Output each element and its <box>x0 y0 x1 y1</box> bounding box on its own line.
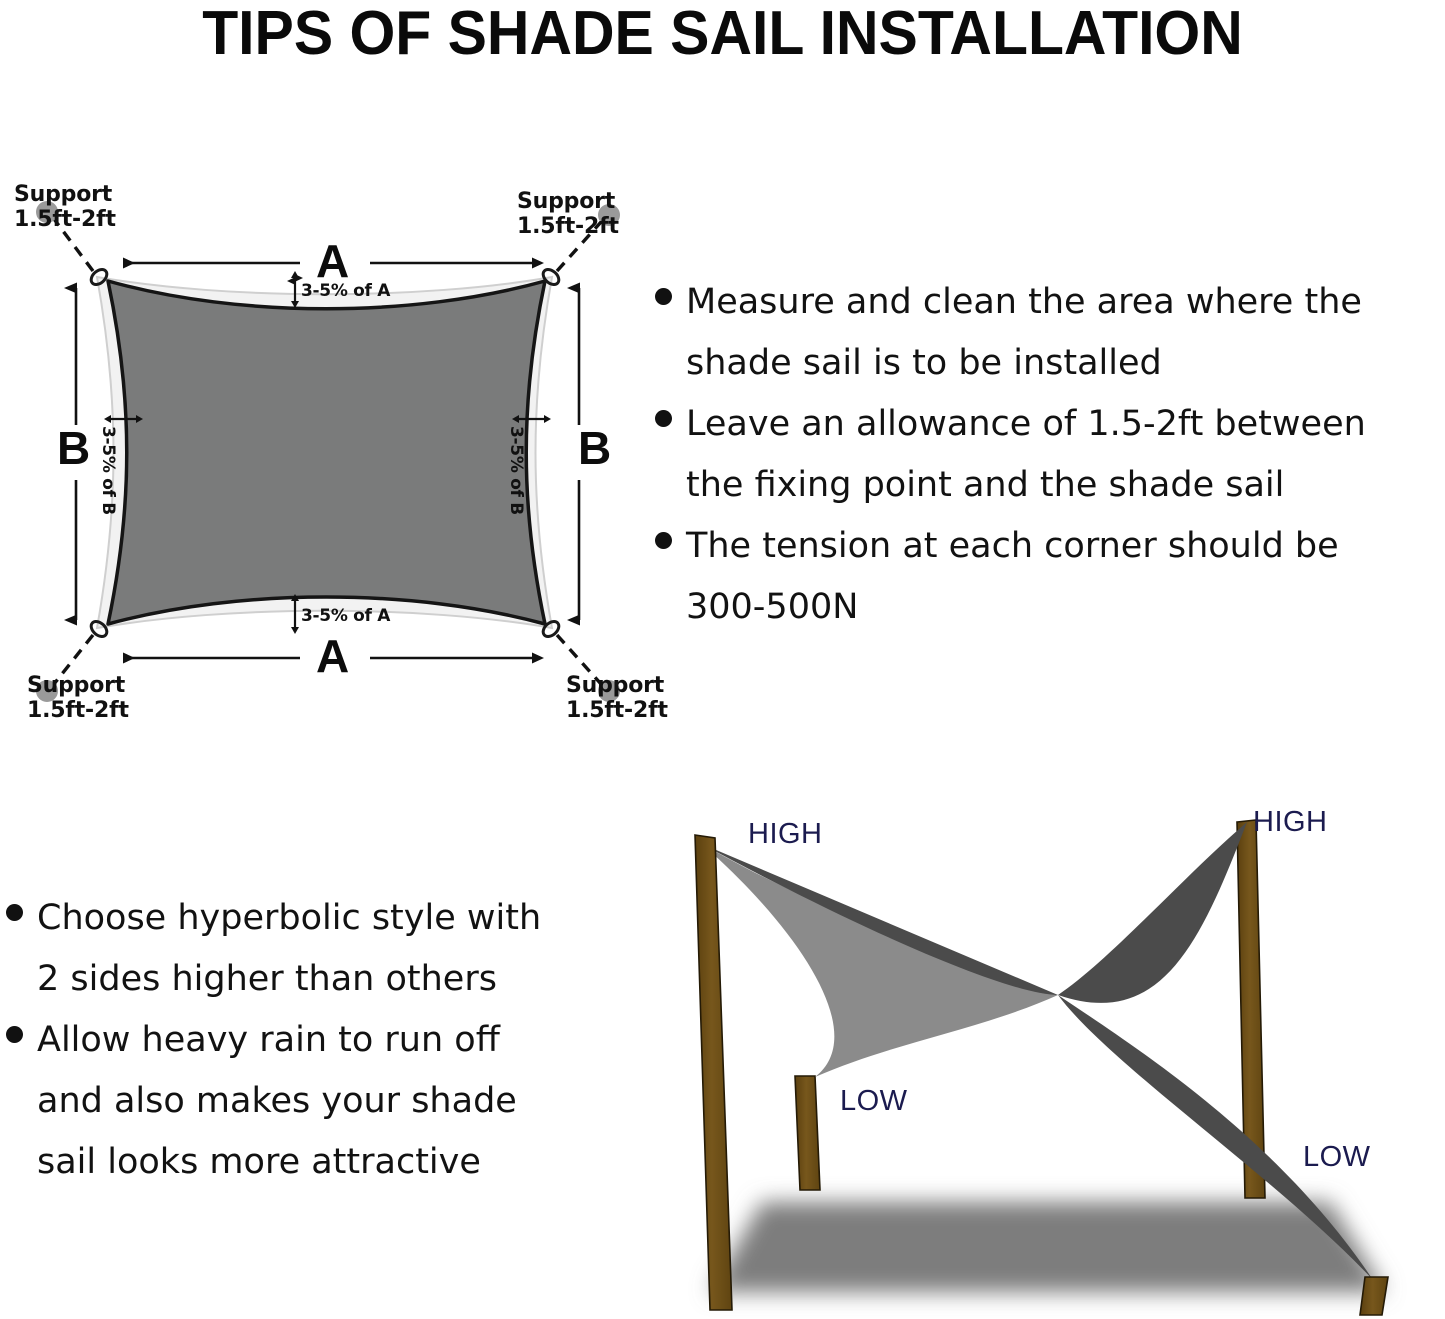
bullet-dot-icon <box>655 532 672 549</box>
curvature-label-right: 3-5% of B <box>506 426 526 515</box>
infographic-page: TIPS OF SHADE SAIL INSTALLATION <box>0 0 1445 1319</box>
bullet-dot-icon <box>655 410 672 427</box>
rect-sail-diagram-graphics <box>0 0 700 740</box>
installation-tips-list-bottom: Choose hyperbolic style with 2 sides hig… <box>6 888 626 1193</box>
post-left-low <box>795 1076 820 1190</box>
dimension-label-a-bottom: A <box>316 633 349 679</box>
bullet-line: Allow heavy rain to run off <box>37 1020 500 1060</box>
support-label-line1: Support <box>517 189 615 214</box>
curvature-label-left: 3-5% of B <box>98 426 118 515</box>
bullet-line: Measure and clean the area where the <box>686 282 1362 322</box>
support-label-bottom-left: Support 1.5ft-2ft <box>27 673 129 723</box>
label-low-right: LOW <box>1303 1141 1371 1174</box>
bullet-line: The tension at each corner should be <box>686 526 1339 566</box>
bullet-line: sail looks more attractive <box>37 1142 481 1182</box>
bullet-dot-icon <box>655 288 672 305</box>
support-label-top-left: Support 1.5ft-2ft <box>14 182 116 232</box>
support-label-bottom-right: Support 1.5ft-2ft <box>566 673 668 723</box>
label-high-right: HIGH <box>1253 806 1328 839</box>
support-label-line1: Support <box>27 673 125 698</box>
support-label-top-right: Support 1.5ft-2ft <box>517 189 619 239</box>
installation-tips-list-top: Measure and clean the area where the sha… <box>655 272 1445 638</box>
list-item: Measure and clean the area where the sha… <box>655 272 1445 394</box>
bullet-line: 2 sides higher than others <box>37 959 497 999</box>
bullet-line: shade sail is to be installed <box>686 343 1162 383</box>
support-label-line2: 1.5ft-2ft <box>566 698 668 723</box>
dimension-label-b-right: B <box>578 425 611 471</box>
hyperbolic-sail-graphics <box>640 780 1445 1319</box>
ground-shadow <box>710 1202 1385 1292</box>
bullet-line: the fixing point and the shade sail <box>686 465 1284 505</box>
support-label-line2: 1.5ft-2ft <box>27 698 129 723</box>
dimension-label-b-left: B <box>57 425 90 471</box>
list-item: Allow heavy rain to run off and also mak… <box>6 1010 626 1193</box>
support-label-line1: Support <box>14 182 112 207</box>
support-label-line2: 1.5ft-2ft <box>14 207 116 232</box>
dimension-label-a-top: A <box>316 238 349 284</box>
bullet-dot-icon <box>6 1026 23 1043</box>
list-item: Choose hyperbolic style with 2 sides hig… <box>6 888 626 1010</box>
bullet-dot-icon <box>6 904 23 921</box>
post-right-low <box>1360 1277 1388 1315</box>
bullet-line: and also makes your shade <box>37 1081 517 1121</box>
curvature-label-bottom: 3-5% of A <box>301 606 390 626</box>
support-label-line2: 1.5ft-2ft <box>517 214 619 239</box>
support-label-line1: Support <box>566 673 664 698</box>
bullet-line: Choose hyperbolic style with <box>37 898 541 938</box>
list-item: The tension at each corner should be 300… <box>655 516 1445 638</box>
list-item: Leave an allowance of 1.5-2ft between th… <box>655 394 1445 516</box>
label-high-left: HIGH <box>748 818 823 851</box>
sail-panel-light <box>702 844 1058 1077</box>
post-left-high <box>695 835 732 1310</box>
label-low-left: LOW <box>840 1085 908 1118</box>
bullet-line: 300-500N <box>686 587 858 627</box>
curvature-label-top: 3-5% of A <box>301 281 390 301</box>
bullet-line: Leave an allowance of 1.5-2ft between <box>686 404 1366 444</box>
